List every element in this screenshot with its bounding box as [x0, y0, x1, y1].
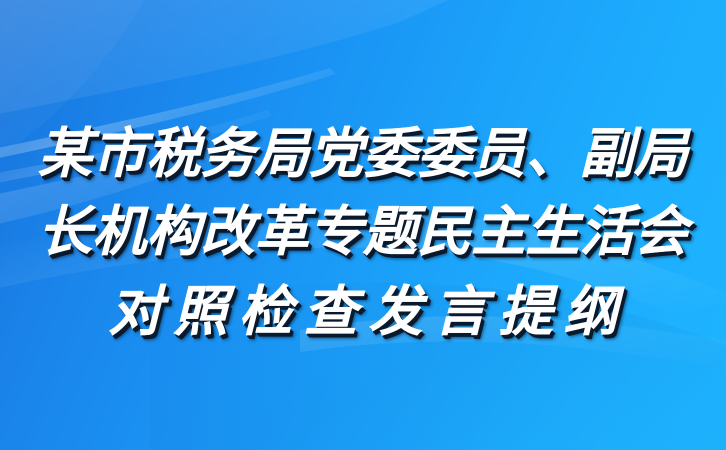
title-char: 委 [363, 114, 417, 192]
title-char: 构 [146, 192, 200, 270]
title-char: 局 [634, 114, 688, 192]
title-char: 机 [92, 192, 146, 270]
title-line-3: 对照检查发言提纲 [0, 272, 726, 350]
title-char: 副 [580, 114, 634, 192]
title-char: 某 [38, 114, 92, 192]
wave-broad-band-upper-left [0, 0, 470, 118]
title-char: 活 [580, 192, 634, 270]
title-char: 员 [471, 114, 525, 192]
title-line-2-chars: 长机构改革专题民主生活会 [38, 192, 688, 270]
title-char: 税 [146, 114, 200, 192]
title-char-punct: 、 [526, 114, 580, 192]
title-char: 专 [309, 192, 363, 270]
title-char: 局 [255, 114, 309, 192]
title-char: 改 [201, 192, 255, 270]
title-line-1: 某市税务局党委委员、副局 某市税务局党委委员、副局 [0, 114, 726, 192]
title-line-2: 长机构改革专题民主生活会 长机构改革专题民主生活会 [0, 192, 726, 270]
title-char: 委 [417, 114, 471, 192]
title-char: 市 [92, 114, 146, 192]
title-char: 生 [526, 192, 580, 270]
title-char: 民 [417, 192, 471, 270]
title-char: 务 [201, 114, 255, 192]
title-char: 题 [363, 192, 417, 270]
title-char: 长 [38, 192, 92, 270]
title-char: 革 [255, 192, 309, 270]
title-line-1-chars: 某市税务局党委委员、副局 [38, 114, 688, 192]
title-char: 会 [634, 192, 688, 270]
page-title: 某市税务局党委委员、副局 某市税务局党委委员、副局 长机构改革专题民主生活会 长… [0, 114, 726, 350]
title-char: 主 [471, 192, 525, 270]
title-banner: 某市税务局党委委员、副局 某市税务局党委委员、副局 长机构改革专题民主生活会 长… [0, 0, 726, 450]
title-char: 党 [309, 114, 363, 192]
